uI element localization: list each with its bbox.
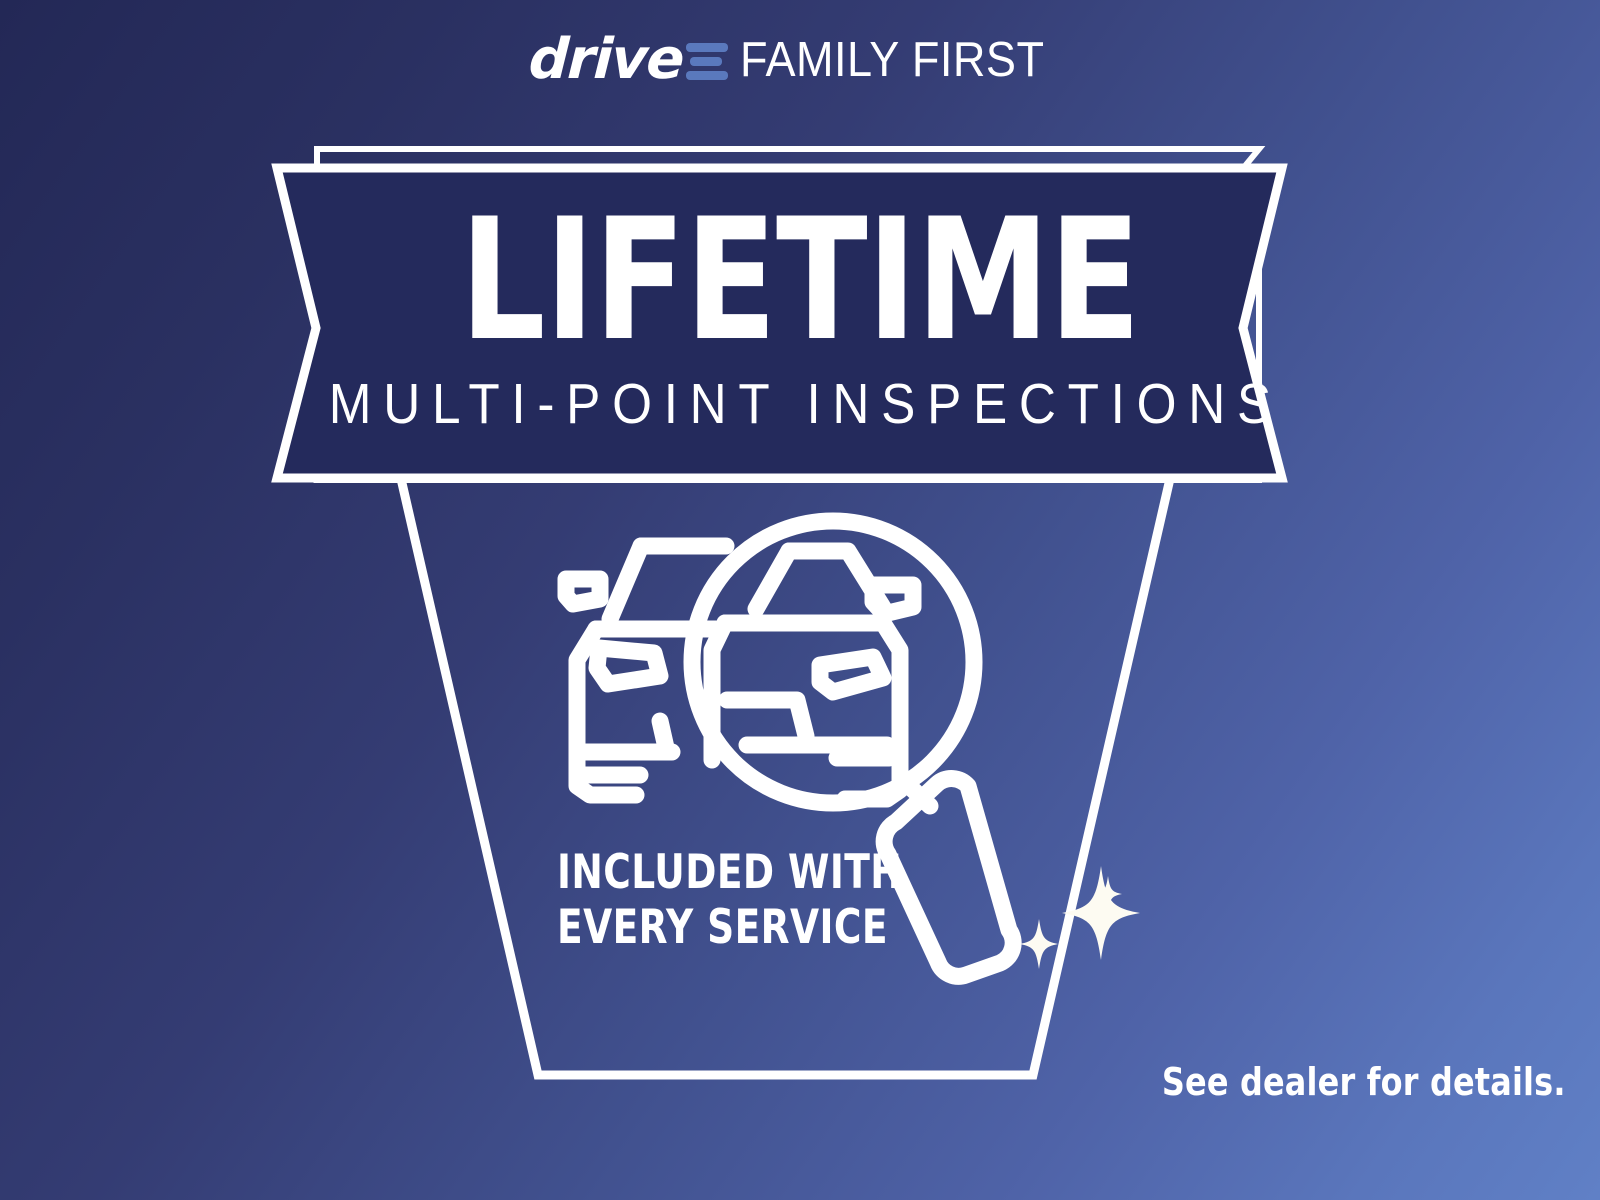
disclaimer-text: See dealer for details. <box>1162 1060 1566 1104</box>
badge-caption: INCLUDED WITH EVERY SERVICE <box>557 845 902 956</box>
caption-line-2: EVERY SERVICE <box>557 900 902 955</box>
magnifier-handle <box>884 779 1013 977</box>
car-outline-background <box>566 546 726 795</box>
badge-artwork <box>0 0 1600 1200</box>
caption-line-1: INCLUDED WITH <box>557 845 902 900</box>
ribbon-banner <box>277 168 1282 478</box>
sparkle-icon-small-1 <box>1020 919 1058 969</box>
